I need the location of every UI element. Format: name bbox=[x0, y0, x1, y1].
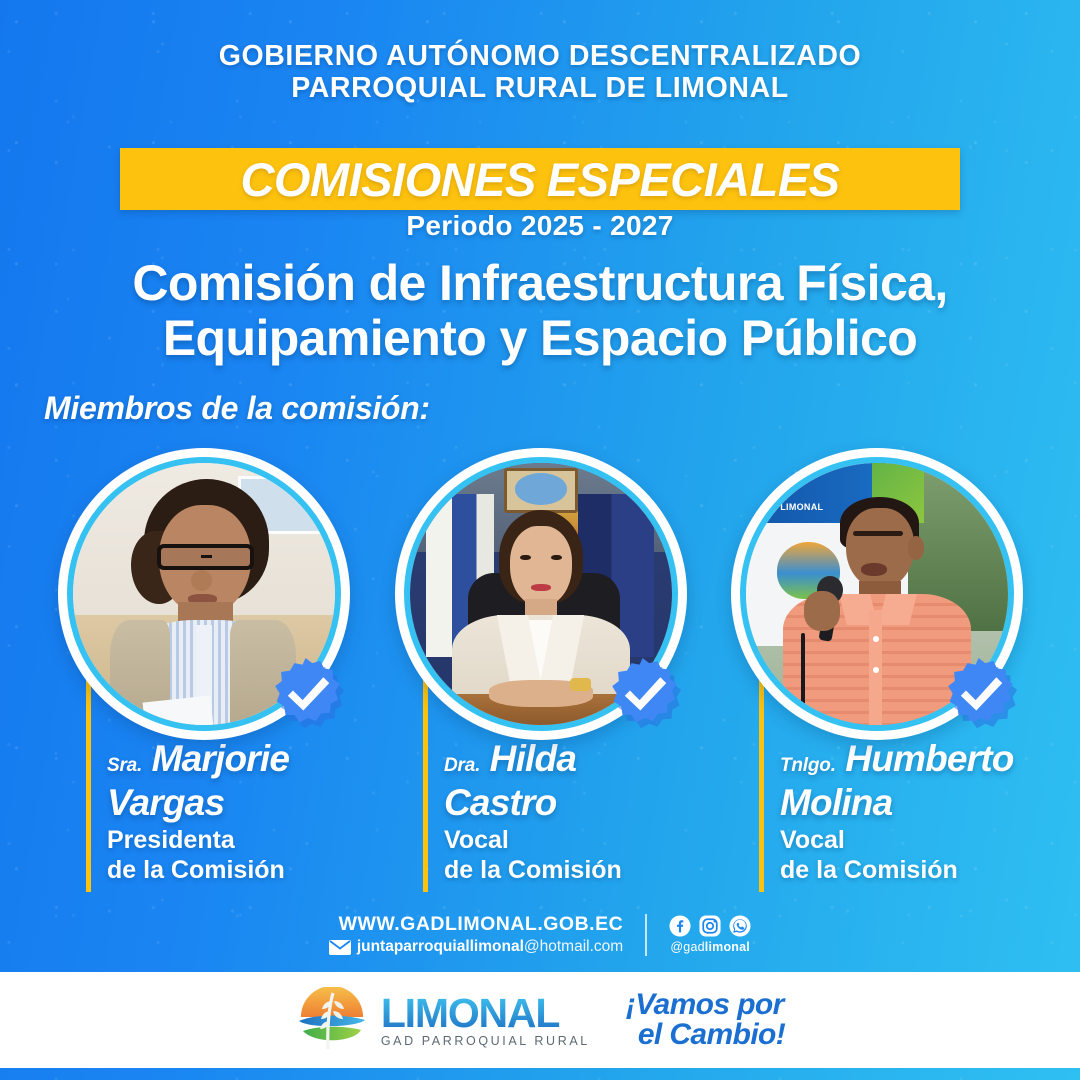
members-label: Miembros de la comisión: bbox=[44, 390, 430, 427]
member-name-line-1: Tnlgo. Humberto bbox=[780, 740, 1048, 784]
member-role-3: Vocal de la Comisión bbox=[780, 825, 1048, 885]
social-handle: @gadlimonal bbox=[669, 940, 751, 954]
email-row[interactable]: juntaparroquiallimonal@hotmail.com bbox=[329, 938, 623, 956]
member-role-line-2: de la Comisión bbox=[780, 855, 1048, 885]
contact-right: @gadlimonal bbox=[669, 915, 751, 954]
member-first-name: Humberto bbox=[845, 738, 1013, 779]
logo-subtitle: GAD PARROQUIAL RURAL bbox=[381, 1034, 590, 1048]
slogan: ¡Vamos por el Cambio! bbox=[626, 990, 785, 1050]
banner-text: COMISIONESESPECIALES bbox=[240, 156, 839, 203]
website-url[interactable]: WWW.GADLIMONAL.GOB.EC bbox=[329, 913, 623, 936]
header-line-2: PARROQUIAL RURAL DE LIMONAL bbox=[0, 72, 1080, 104]
member-role-line-2: de la Comisión bbox=[444, 855, 712, 885]
contact-left: WWW.GADLIMONAL.GOB.EC juntaparroquiallim… bbox=[329, 913, 623, 956]
handle-bold: limonal bbox=[705, 940, 750, 954]
verified-badge-icon bbox=[273, 658, 347, 732]
banner-word-comisiones: COMISIONES bbox=[240, 153, 535, 206]
verified-badge-icon bbox=[946, 658, 1020, 732]
slogan-line-2: el Cambio! bbox=[638, 1020, 785, 1050]
member-last-name: Castro bbox=[444, 784, 712, 821]
verified-badge-icon bbox=[610, 658, 684, 732]
member-role-1: Presidenta de la Comisión bbox=[107, 825, 375, 885]
commission-title-line-2: Equipamiento y Espacio Público bbox=[0, 311, 1080, 366]
footer-bar: LIMONAL GAD PARROQUIAL RURAL ¡Vamos por … bbox=[0, 972, 1080, 1068]
comisiones-especiales-banner: COMISIONESESPECIALES bbox=[120, 148, 960, 210]
member-first-name: Hilda bbox=[490, 738, 576, 779]
handle-prefix: @gad bbox=[670, 940, 704, 954]
envelope-icon bbox=[329, 940, 351, 955]
email-domain: @hotmail.com bbox=[524, 938, 623, 955]
member-name-1: Sra. Marjorie Vargas bbox=[107, 740, 375, 821]
whatsapp-icon[interactable] bbox=[729, 915, 751, 937]
member-role-line-2: de la Comisión bbox=[107, 855, 375, 885]
limonal-logo: LIMONAL GAD PARROQUIAL RURAL bbox=[295, 987, 590, 1053]
member-role-line-1: Presidenta bbox=[107, 825, 375, 855]
periodo-label: Periodo 2025 - 2027 bbox=[0, 210, 1080, 242]
member-name-3: Tnlgo. Humberto Molina bbox=[780, 740, 1048, 821]
social-icons bbox=[669, 915, 751, 937]
member-name-line-1: Sra. Marjorie bbox=[107, 740, 375, 784]
member-last-name: Molina bbox=[780, 784, 1048, 821]
email-address: juntaparroquiallimonal@hotmail.com bbox=[357, 938, 623, 956]
instagram-icon[interactable] bbox=[699, 915, 721, 937]
header-line-1: GOBIERNO AUTÓNOMO DESCENTRALIZADO bbox=[0, 40, 1080, 72]
logo-word: LIMONAL bbox=[381, 993, 590, 1033]
member-role-line-1: Vocal bbox=[444, 825, 712, 855]
member-first-name: Marjorie bbox=[152, 738, 290, 779]
email-user: juntaparroquiallimonal bbox=[357, 938, 524, 955]
member-prefix: Sra. bbox=[107, 755, 142, 776]
facebook-icon[interactable] bbox=[669, 915, 691, 937]
member-role-2: Vocal de la Comisión bbox=[444, 825, 712, 885]
poster-canvas: GOBIERNO AUTÓNOMO DESCENTRALIZADO PARROQ… bbox=[0, 0, 1080, 1080]
limonal-wordmark: LIMONAL GAD PARROQUIAL RURAL bbox=[381, 993, 590, 1048]
limonal-emblem-icon bbox=[295, 987, 369, 1053]
member-prefix: Dra. bbox=[444, 755, 480, 776]
commission-title-line-1: Comisión de Infraestructura Física, bbox=[0, 256, 1080, 311]
member-role-line-1: Vocal bbox=[780, 825, 1048, 855]
member-name-line-1: Dra. Hilda bbox=[444, 740, 712, 784]
member-name-2: Dra. Hilda Castro bbox=[444, 740, 712, 821]
contact-strip: WWW.GADLIMONAL.GOB.EC juntaparroquiallim… bbox=[0, 913, 1080, 956]
member-last-name: Vargas bbox=[107, 784, 375, 821]
institution-header: GOBIERNO AUTÓNOMO DESCENTRALIZADO PARROQ… bbox=[0, 40, 1080, 104]
member-prefix: Tnlgo. bbox=[780, 755, 836, 776]
commission-title: Comisión de Infraestructura Física, Equi… bbox=[0, 256, 1080, 366]
banner-word-especiales: ESPECIALES bbox=[547, 153, 840, 206]
contact-divider bbox=[645, 914, 647, 956]
slogan-line-1: ¡Vamos por bbox=[626, 988, 784, 1021]
